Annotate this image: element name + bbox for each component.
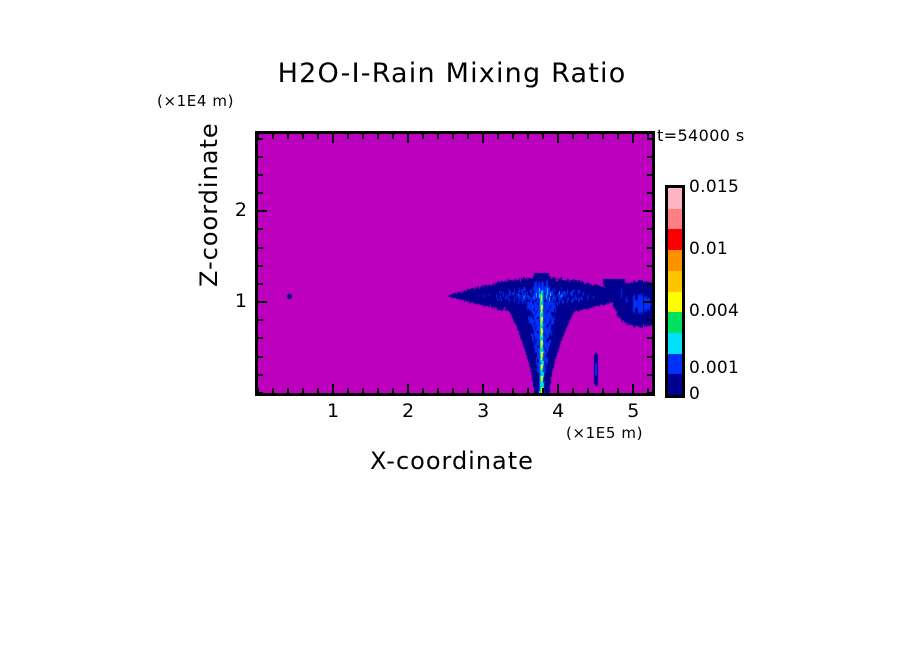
x-minor-tick-top [452,134,454,139]
x-minor-tick-top [467,134,469,139]
x-minor-tick-top [602,134,604,139]
x-minor-tick-top [272,134,274,139]
x-minor-tick [512,388,514,393]
colorbar-segment [668,250,682,271]
y-minor-tick [258,265,263,267]
x-minor-tick [467,388,469,393]
y-minor-tick-right [647,283,652,285]
colorbar-segment [668,188,682,209]
x-major-tick [557,384,559,393]
x-minor-tick-top [542,134,544,139]
x-major-tick [332,384,334,393]
x-minor-tick [317,388,319,393]
x-minor-tick-top [392,134,394,139]
colorbar-segment [668,333,682,354]
y-axis-unit-label: (×1E4 m) [157,92,234,110]
y-major-tick [258,301,267,303]
y-minor-tick-right [647,392,652,394]
x-minor-tick [527,388,529,393]
colorbar-segment [668,312,682,333]
x-tick-label: 1 [318,400,348,422]
y-minor-tick [258,283,263,285]
x-minor-tick [497,388,499,393]
y-minor-tick-right [647,265,652,267]
x-minor-tick [452,388,454,393]
x-minor-tick [347,388,349,393]
x-minor-tick-top [302,134,304,139]
x-major-tick [407,384,409,393]
x-minor-tick [587,388,589,393]
x-minor-tick [572,388,574,393]
y-minor-tick [258,228,263,230]
y-minor-tick-right [647,356,652,358]
y-minor-tick [258,174,263,176]
x-major-tick-top [407,134,409,143]
x-minor-tick [272,388,274,393]
x-major-tick-top [557,134,559,143]
y-minor-tick-right [647,228,652,230]
x-minor-tick [542,388,544,393]
x-minor-tick-top [572,134,574,139]
y-tick-label: 2 [223,199,247,221]
x-major-tick [482,384,484,393]
colorbar-tick-label: 0.001 [689,358,739,378]
y-minor-tick [258,138,263,140]
y-minor-tick [258,337,263,339]
x-minor-tick-top [497,134,499,139]
x-minor-tick-top [587,134,589,139]
x-tick-label: 3 [468,400,498,422]
timestamp-annotation: t=54000 s [657,126,745,145]
x-minor-tick-top [527,134,529,139]
x-minor-tick-top [437,134,439,139]
x-minor-tick [302,388,304,393]
y-minor-tick-right [647,247,652,249]
x-minor-tick-top [287,134,289,139]
x-tick-label: 5 [618,400,648,422]
y-minor-tick-right [647,156,652,158]
y-minor-tick-right [647,192,652,194]
y-minor-tick [258,319,263,321]
x-major-tick-top [332,134,334,143]
x-minor-tick [617,388,619,393]
x-minor-tick-top [362,134,364,139]
y-minor-tick [258,247,263,249]
x-tick-label: 2 [393,400,423,422]
x-axis-unit-label: (×1E5 m) [566,424,643,442]
x-minor-tick-top [617,134,619,139]
colorbar-segment [668,292,682,313]
x-tick-label: 4 [543,400,573,422]
colorbar-tick-label: 0.015 [689,177,739,197]
y-minor-tick [258,374,263,376]
figure-canvas: H2O-I-Rain Mixing Ratio (×1E4 m) (×1E5 m… [0,0,904,654]
x-major-tick-top [632,134,634,143]
x-axis-title: X-coordinate [255,447,649,475]
y-minor-tick-right [647,138,652,140]
x-minor-tick-top [377,134,379,139]
x-minor-tick-top [422,134,424,139]
colorbar-segment [668,271,682,292]
x-minor-tick-top [347,134,349,139]
x-minor-tick [377,388,379,393]
colorbar-segment [668,354,682,375]
colorbar-tick-label: 0 [689,384,700,404]
y-axis-title: Z-coordinate [195,261,223,287]
y-minor-tick [258,156,263,158]
x-minor-tick-top [512,134,514,139]
y-major-tick [258,210,267,212]
colorbar-tick-label: 0.004 [689,301,739,321]
y-minor-tick-right [647,337,652,339]
x-minor-tick [437,388,439,393]
x-major-tick-top [482,134,484,143]
x-minor-tick [362,388,364,393]
colorbar-segment [668,209,682,230]
y-minor-tick [258,392,263,394]
colorbar [665,185,685,398]
y-minor-tick [258,356,263,358]
x-minor-tick [392,388,394,393]
x-minor-tick-top [317,134,319,139]
x-major-tick [632,384,634,393]
x-minor-tick [287,388,289,393]
colorbar-tick-label: 0.01 [689,239,728,259]
y-minor-tick-right [647,319,652,321]
y-major-tick-right [643,301,652,303]
heatmap-canvas [258,134,652,393]
y-minor-tick-right [647,174,652,176]
x-minor-tick [422,388,424,393]
y-major-tick-right [643,210,652,212]
x-minor-tick [602,388,604,393]
y-tick-label: 1 [223,290,247,312]
y-minor-tick [258,192,263,194]
colorbar-segment [668,374,682,395]
y-minor-tick-right [647,374,652,376]
colorbar-segment [668,229,682,250]
plot-area [255,131,655,396]
page-title: H2O-I-Rain Mixing Ratio [0,58,904,89]
